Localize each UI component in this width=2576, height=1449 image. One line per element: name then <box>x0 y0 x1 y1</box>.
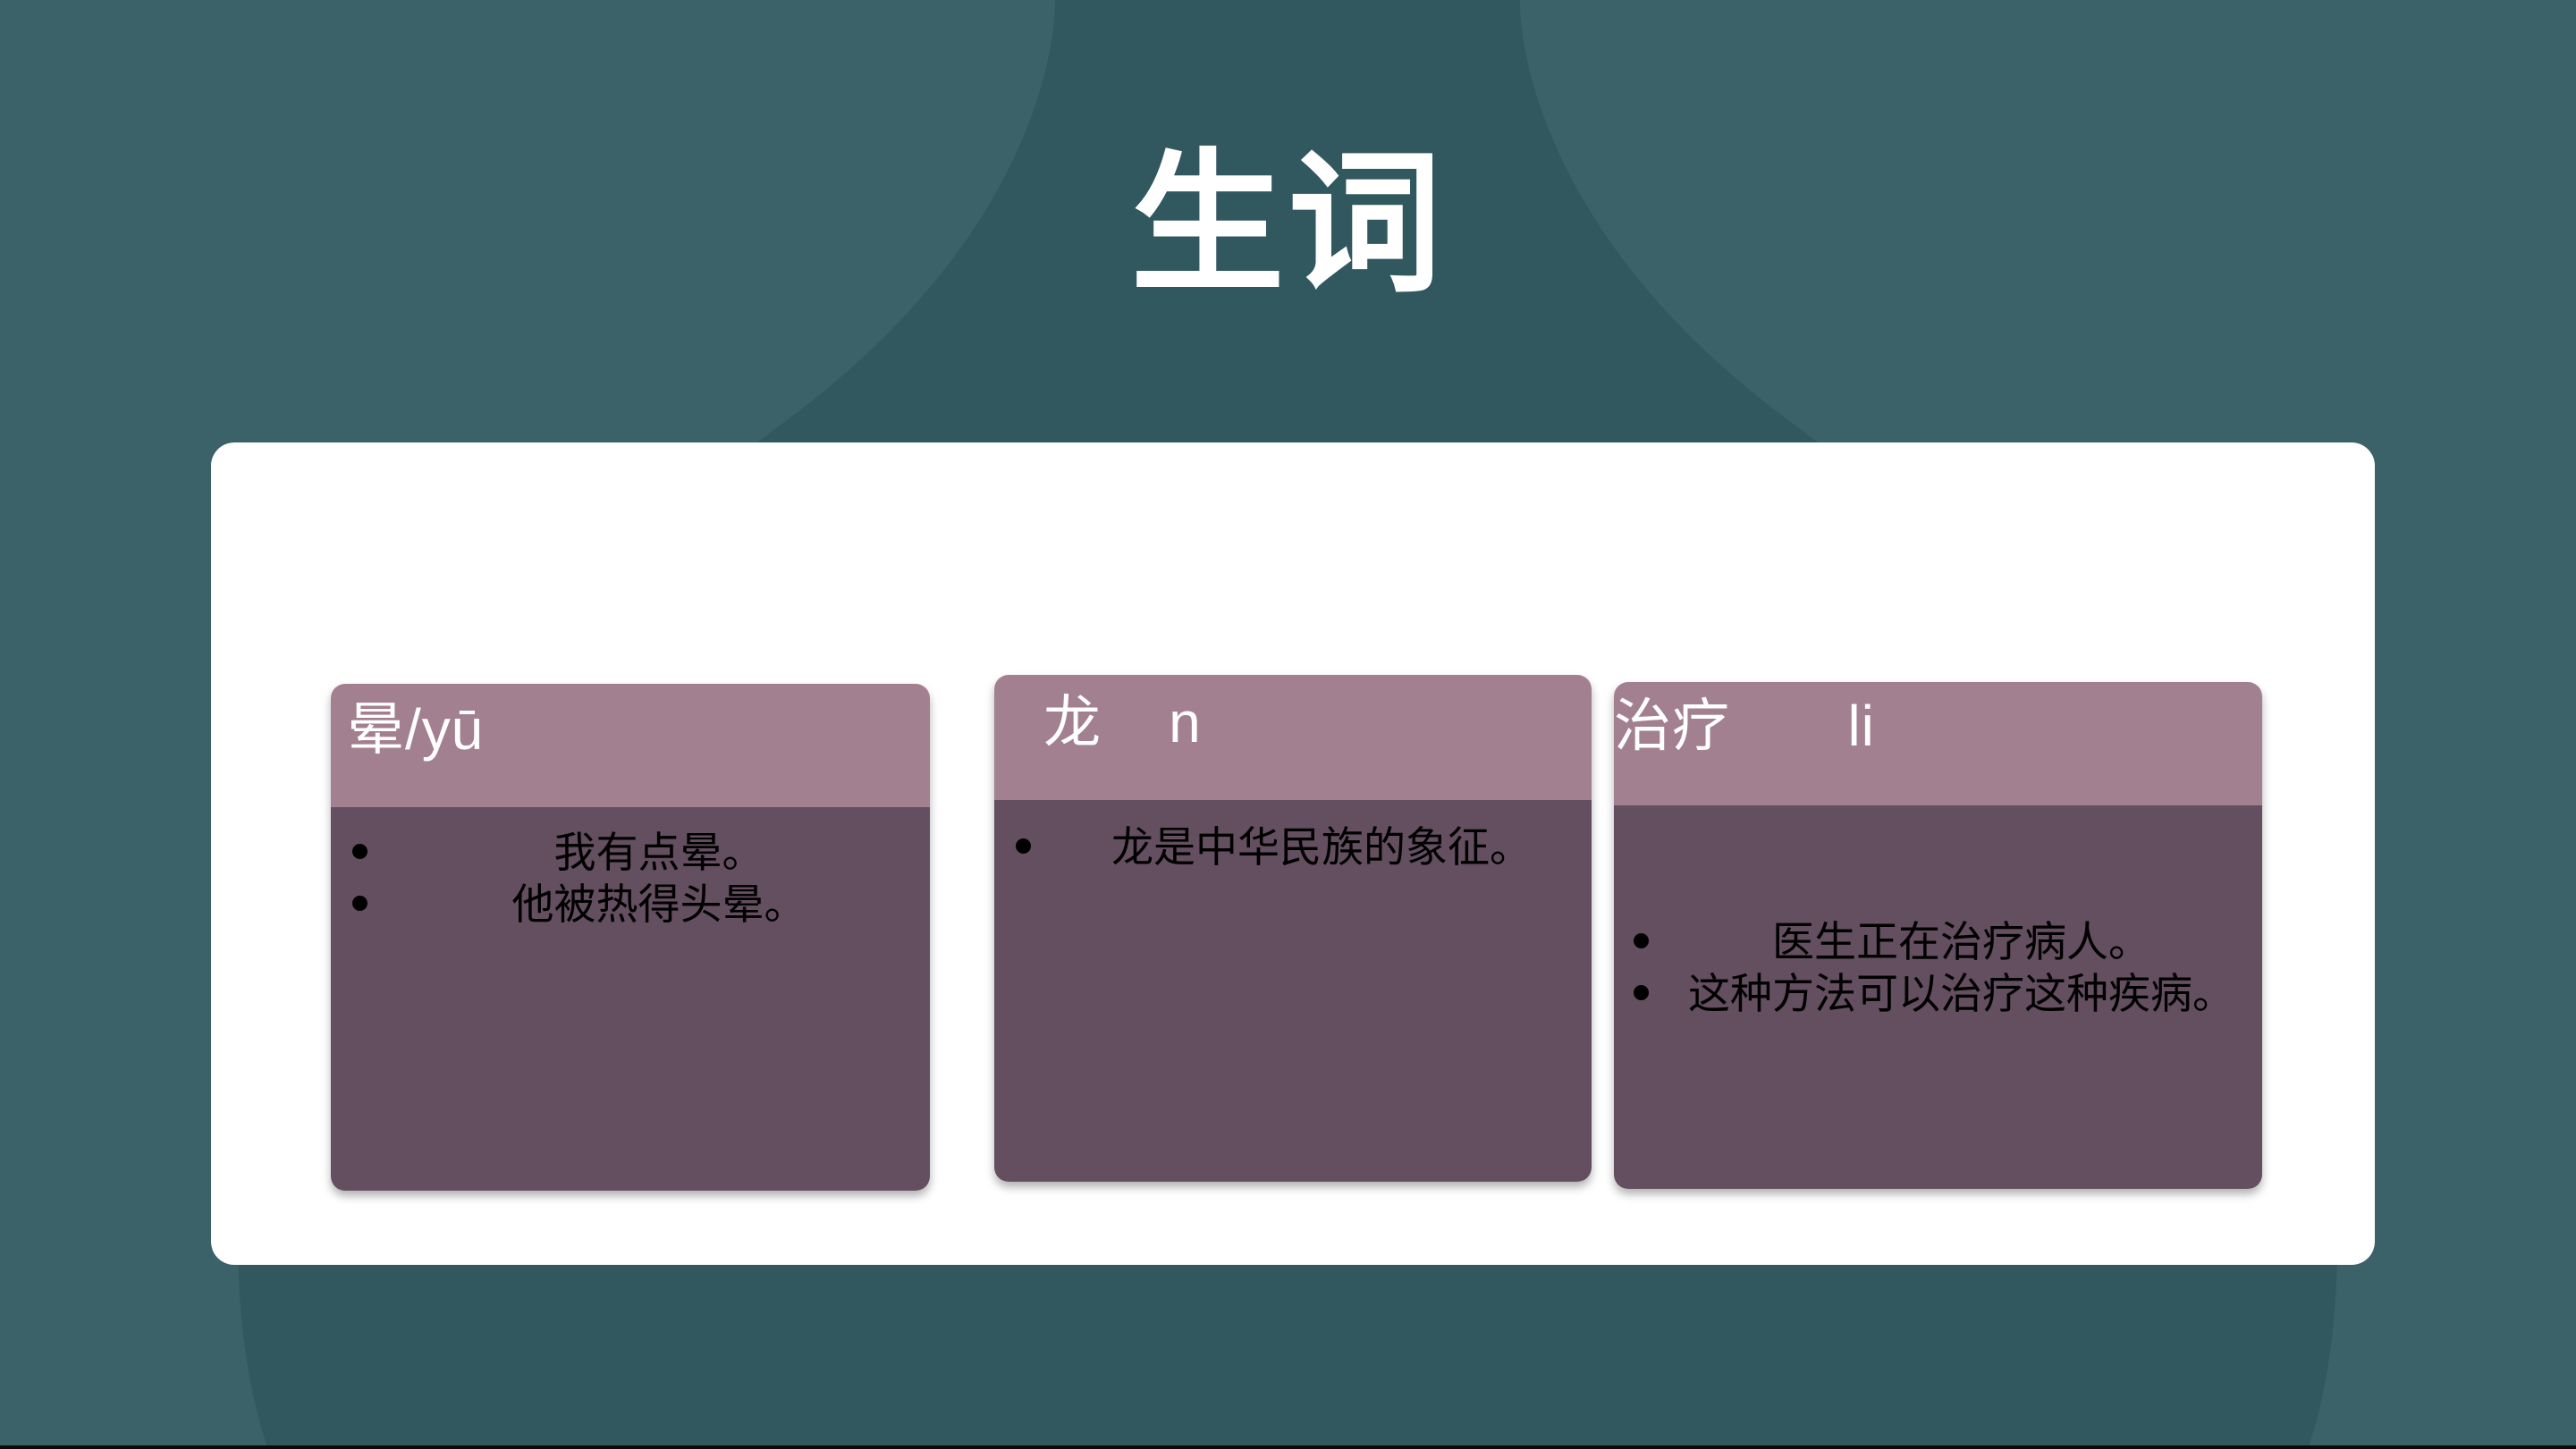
example-sentence-text: 这种方法可以治疗这种疾病。 <box>1688 970 2234 1017</box>
slide: 生词 晕/yū 我有点晕。 他被热得头晕。 龙 n <box>0 0 2576 1449</box>
bullet-dot-icon <box>352 844 367 859</box>
vocabulary-card[interactable]: 晕/yū 我有点晕。 他被热得头晕。 <box>331 684 930 1191</box>
vocabulary-card[interactable]: 治疗 li 医生正在治疗病人。 这种方法可以治疗这种疾病。 <box>1614 682 2262 1189</box>
bullet-dot-icon <box>1016 838 1031 854</box>
list-item: 他被热得头晕。 <box>331 880 930 929</box>
vocabulary-card[interactable]: 龙 n 龙是中华民族的象征。 <box>994 675 1592 1182</box>
page-title: 生词 <box>0 134 2576 316</box>
example-sentence-text: 龙是中华民族的象征。 <box>1111 823 1532 871</box>
bullet-dot-icon <box>1634 985 1649 1000</box>
list-item: 龙是中华民族的象征。 <box>994 823 1592 872</box>
example-sentence-text: 我有点晕。 <box>554 829 764 876</box>
bottom-clipped-strip <box>0 1445 2576 1449</box>
vocabulary-card-header: 治疗 li <box>1614 682 2262 805</box>
example-sentence-text: 他被热得头晕。 <box>512 880 807 928</box>
vocabulary-card-body: 我有点晕。 他被热得头晕。 <box>331 807 930 1191</box>
list-item: 我有点晕。 <box>331 829 930 877</box>
example-sentence-list: 龙是中华民族的象征。 <box>994 800 1592 872</box>
bullet-dot-icon <box>352 896 367 911</box>
vocabulary-card-header: 龙 n <box>994 675 1592 800</box>
vocabulary-card-body: 医生正在治疗病人。 这种方法可以治疗这种疾病。 <box>1614 805 2262 1189</box>
example-sentence-text: 医生正在治疗病人。 <box>1772 918 2150 965</box>
bullet-dot-icon <box>1634 933 1649 948</box>
vocabulary-card-header: 晕/yū <box>331 684 930 807</box>
example-sentence-list: 我有点晕。 他被热得头晕。 <box>331 807 930 929</box>
list-item: 医生正在治疗病人。 <box>1614 918 2262 966</box>
example-sentence-list: 医生正在治疗病人。 这种方法可以治疗这种疾病。 <box>1614 805 2262 1018</box>
vocabulary-card-body: 龙是中华民族的象征。 <box>994 800 1592 1182</box>
list-item: 这种方法可以治疗这种疾病。 <box>1614 970 2262 1018</box>
vocabulary-card-list: 晕/yū 我有点晕。 他被热得头晕。 龙 n <box>331 675 2262 1193</box>
